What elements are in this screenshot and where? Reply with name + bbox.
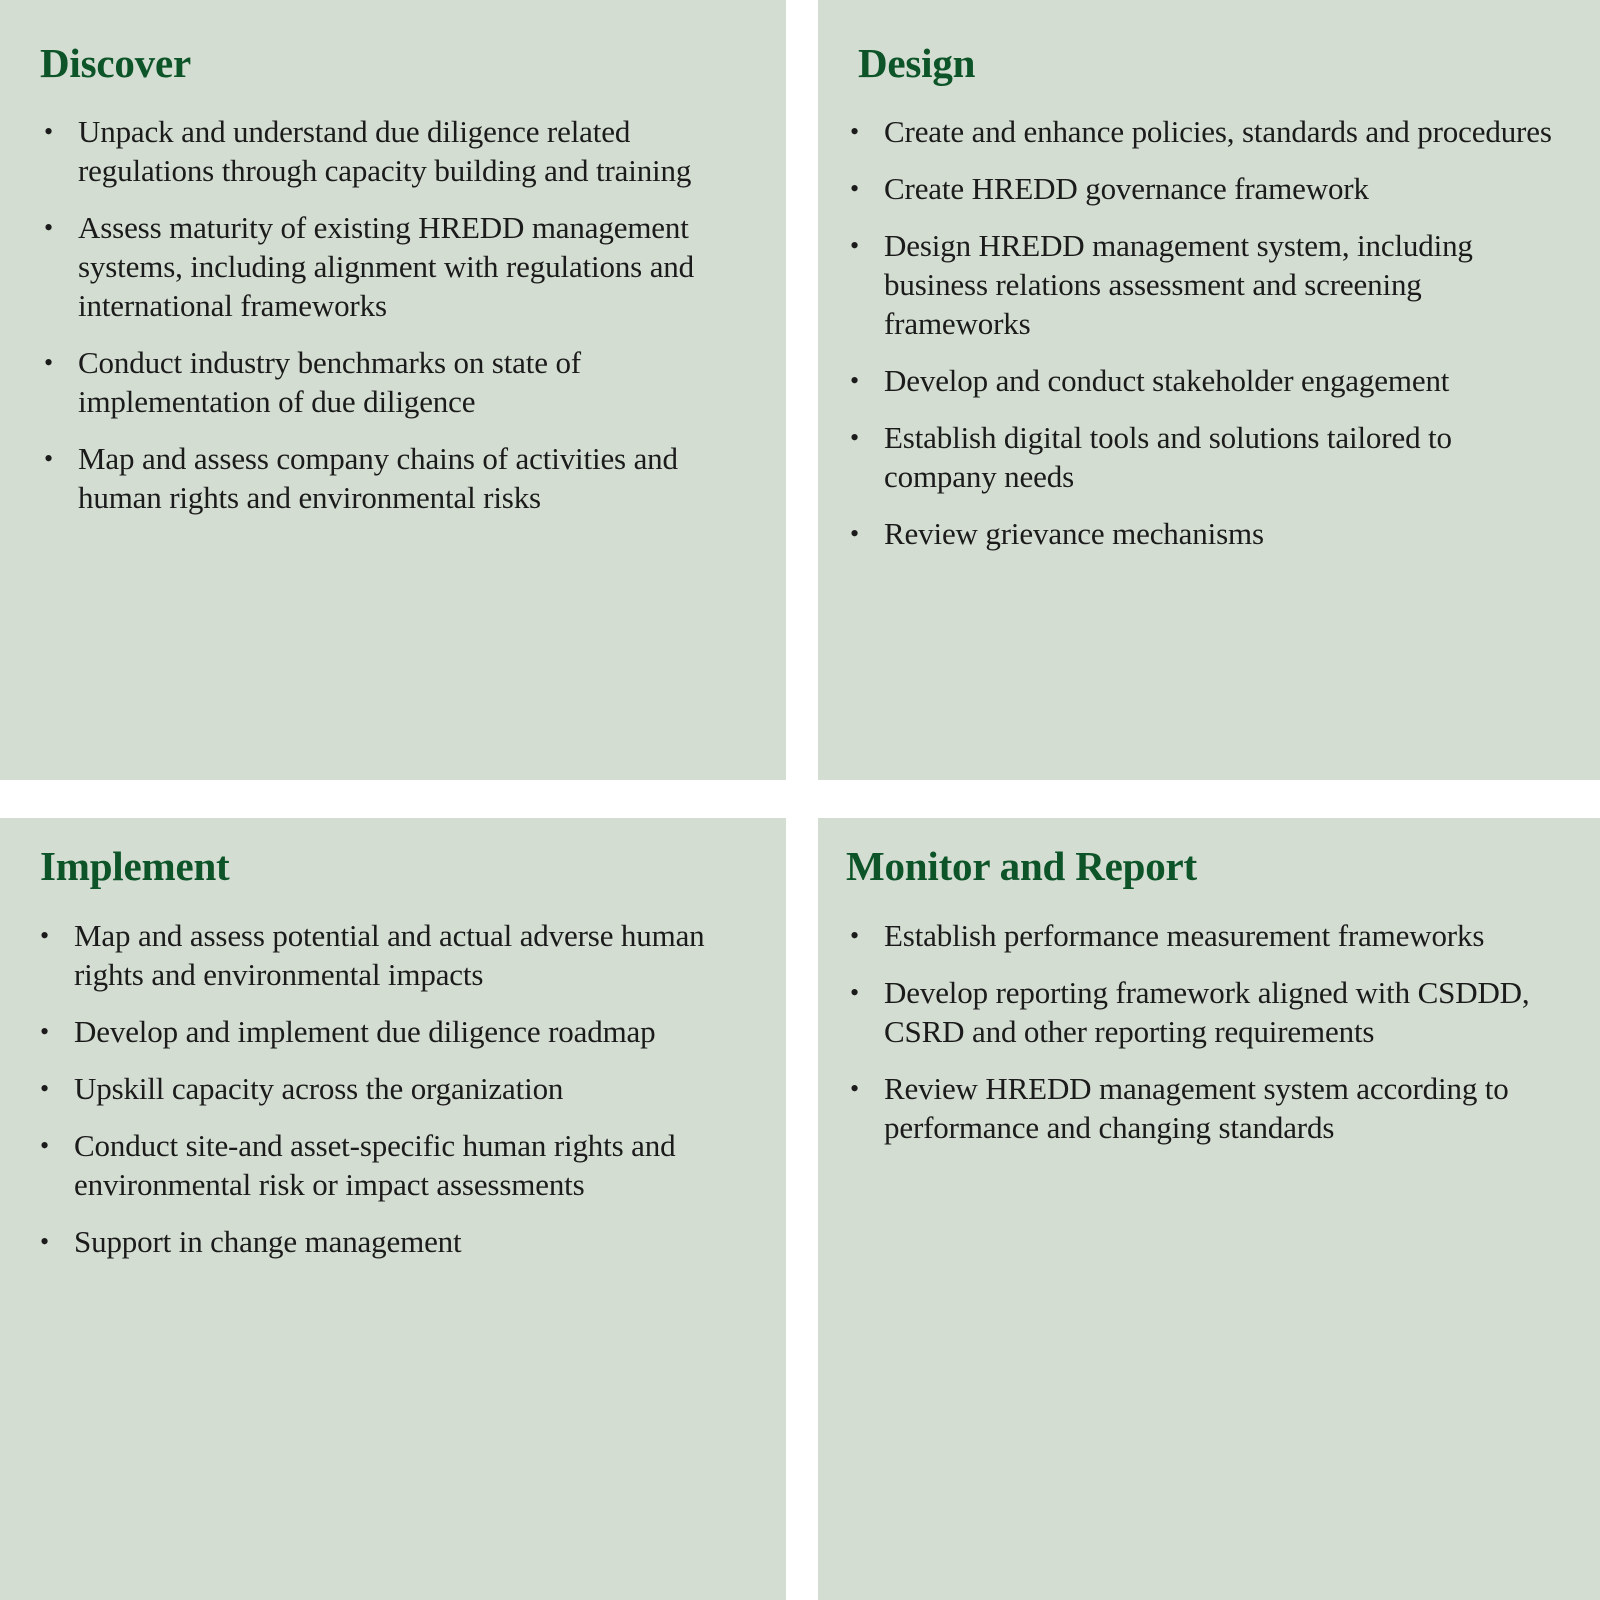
bullet-dot-icon: • (850, 514, 888, 553)
bullet-dot-icon: • (850, 112, 888, 151)
list-item-text: Map and assess company chains of activit… (78, 439, 740, 517)
list-item-text: Establish performance measurement framew… (884, 916, 1546, 955)
bullet-dot-icon: • (40, 1012, 78, 1051)
list-item-text: Unpack and understand due diligence rela… (78, 112, 740, 190)
bullet-dot-icon: • (850, 418, 888, 457)
divider-intersection (786, 780, 818, 818)
panel-title-design: Design (858, 40, 975, 86)
list-item-text: Create and enhance policies, standards a… (884, 112, 1566, 151)
panel-discover: Discover • Unpack and understand due dil… (0, 0, 786, 780)
bullet-dot-icon: • (40, 1069, 78, 1108)
quadrant-layout: Discover • Unpack and understand due dil… (0, 0, 1600, 1600)
bullet-dot-icon: • (44, 208, 82, 247)
list-item: • Develop and implement due diligence ro… (36, 1012, 736, 1051)
panel-title-monitor-and-report: Monitor and Report (846, 843, 1197, 889)
bullet-dot-icon: • (44, 343, 82, 382)
list-item: • Create and enhance policies, standards… (846, 112, 1566, 151)
list-item: • Create HREDD governance framework (846, 169, 1566, 208)
list-item-text: Review HREDD management system according… (884, 1069, 1546, 1147)
list-item: • Design HREDD management system, includ… (846, 226, 1566, 343)
bullet-list-implement: • Map and assess potential and actual ad… (36, 916, 736, 1261)
list-item: • Support in change management (36, 1222, 736, 1261)
panel-implement: Implement • Map and assess potential and… (0, 818, 786, 1600)
list-item: • Review grievance mechanisms (846, 514, 1566, 553)
list-item: • Establish digital tools and solutions … (846, 418, 1566, 496)
list-item-text: Establish digital tools and solutions ta… (884, 418, 1566, 496)
bullet-list-design: • Create and enhance policies, standards… (846, 112, 1566, 553)
list-item-text: Develop reporting framework aligned with… (884, 973, 1546, 1051)
bullet-dot-icon: • (850, 226, 888, 265)
list-item-text: Conduct site-and asset-specific human ri… (74, 1126, 736, 1204)
bullet-dot-icon: • (40, 1126, 78, 1165)
list-item-text: Create HREDD governance framework (884, 169, 1566, 208)
list-item: • Map and assess company chains of activ… (40, 439, 740, 517)
vertical-divider-top (786, 0, 818, 780)
bullet-dot-icon: • (850, 973, 888, 1012)
bullet-dot-icon: • (850, 361, 888, 400)
panel-title-discover: Discover (40, 40, 191, 86)
list-item-text: Assess maturity of existing HREDD manage… (78, 208, 740, 325)
bullet-dot-icon: • (850, 169, 888, 208)
list-item: • Conduct site-and asset-specific human … (36, 1126, 736, 1204)
list-item: • Develop and conduct stakeholder engage… (846, 361, 1566, 400)
list-item-text: Design HREDD management system, includin… (884, 226, 1566, 343)
bullet-dot-icon: • (44, 112, 82, 151)
bullet-list-monitor-and-report: • Establish performance measurement fram… (846, 916, 1546, 1147)
list-item-text: Develop and implement due diligence road… (74, 1012, 736, 1051)
list-item: • Unpack and understand due diligence re… (40, 112, 740, 190)
list-item-text: Develop and conduct stakeholder engageme… (884, 361, 1566, 400)
bullet-dot-icon: • (850, 1069, 888, 1108)
list-item: • Review HREDD management system accordi… (846, 1069, 1546, 1147)
list-item-text: Upskill capacity across the organization (74, 1069, 736, 1108)
list-item-text: Support in change management (74, 1222, 736, 1261)
panel-monitor-and-report: Monitor and Report • Establish performan… (818, 818, 1600, 1600)
list-item: • Develop reporting framework aligned wi… (846, 973, 1546, 1051)
list-item-text: Conduct industry benchmarks on state of … (78, 343, 740, 421)
list-item-text: Review grievance mechanisms (884, 514, 1566, 553)
list-item: • Establish performance measurement fram… (846, 916, 1546, 955)
bullet-dot-icon: • (40, 1222, 78, 1261)
horizontal-divider-left (0, 780, 786, 818)
bullet-dot-icon: • (44, 439, 82, 478)
list-item: • Conduct industry benchmarks on state o… (40, 343, 740, 421)
bullet-dot-icon: • (850, 916, 888, 955)
horizontal-divider-right (818, 780, 1600, 818)
list-item: • Assess maturity of existing HREDD mana… (40, 208, 740, 325)
panel-title-implement: Implement (40, 843, 230, 889)
vertical-divider-bottom (786, 818, 818, 1600)
bullet-list-discover: • Unpack and understand due diligence re… (40, 112, 740, 517)
panel-design: Design • Create and enhance policies, st… (818, 0, 1600, 780)
list-item-text: Map and assess potential and actual adve… (74, 916, 736, 994)
list-item: • Upskill capacity across the organizati… (36, 1069, 736, 1108)
bullet-dot-icon: • (40, 916, 78, 955)
list-item: • Map and assess potential and actual ad… (36, 916, 736, 994)
